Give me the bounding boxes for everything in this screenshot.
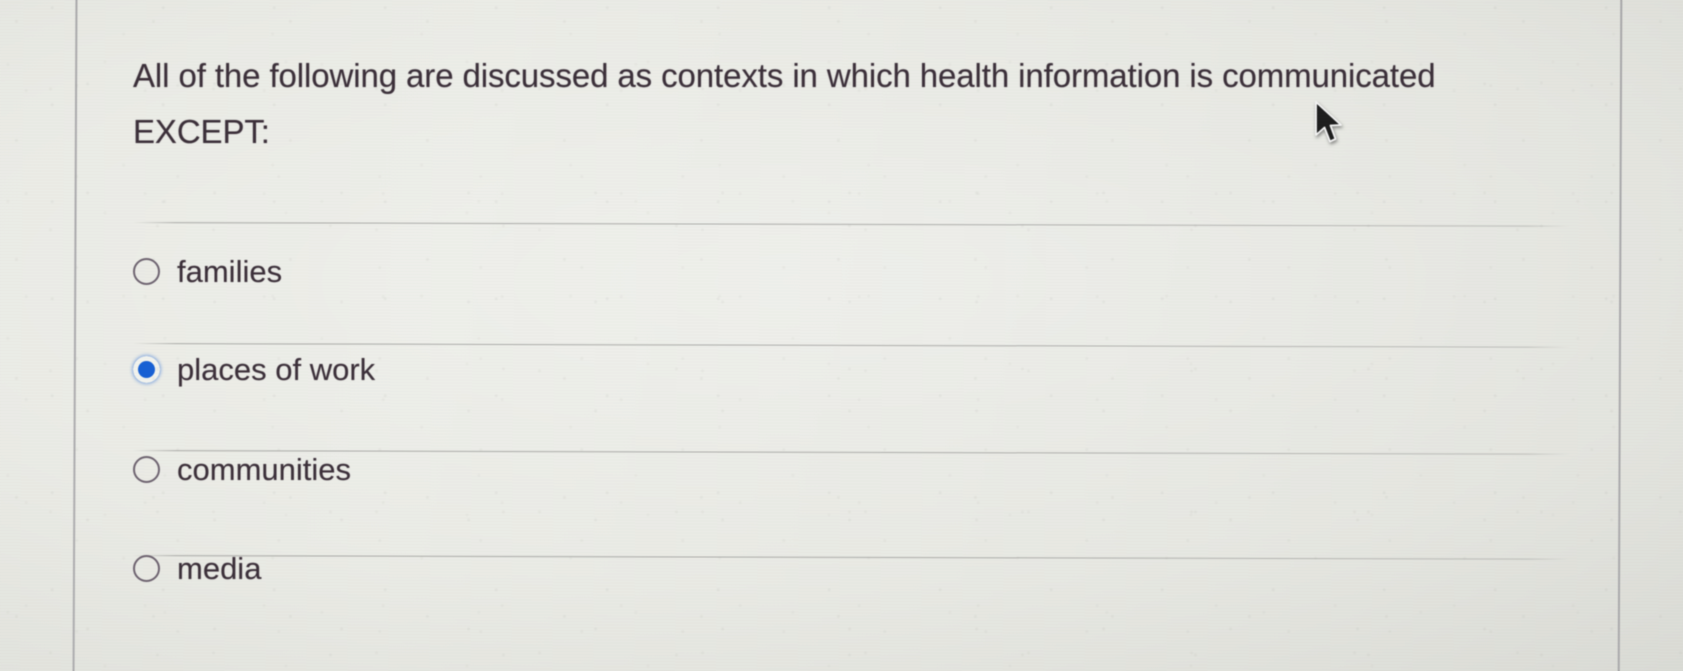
- option-label-media: media: [177, 553, 261, 584]
- panel-left-border: [72, 0, 77, 671]
- option-row-places-of-work[interactable]: places of work: [133, 346, 375, 392]
- radio-button-media[interactable]: [133, 555, 160, 582]
- option-label-families: families: [177, 256, 282, 287]
- option-row-families[interactable]: families: [133, 248, 282, 294]
- radio-button-families[interactable]: [133, 258, 160, 285]
- option-row-media[interactable]: media: [133, 545, 261, 591]
- option-label-communities: communities: [177, 454, 351, 485]
- radio-button-places-of-work[interactable]: [133, 356, 160, 383]
- option-label-places-of-work: places of work: [177, 354, 375, 385]
- question-text: All of the following are discussed as co…: [133, 48, 1443, 160]
- option-row-communities[interactable]: communities: [133, 446, 351, 492]
- radio-button-communities[interactable]: [133, 456, 160, 483]
- question-panel: All of the following are discussed as co…: [78, 0, 1619, 671]
- quiz-screenshot: All of the following are discussed as co…: [0, 0, 1683, 671]
- option-divider: [133, 555, 1570, 560]
- option-divider: [133, 222, 1570, 227]
